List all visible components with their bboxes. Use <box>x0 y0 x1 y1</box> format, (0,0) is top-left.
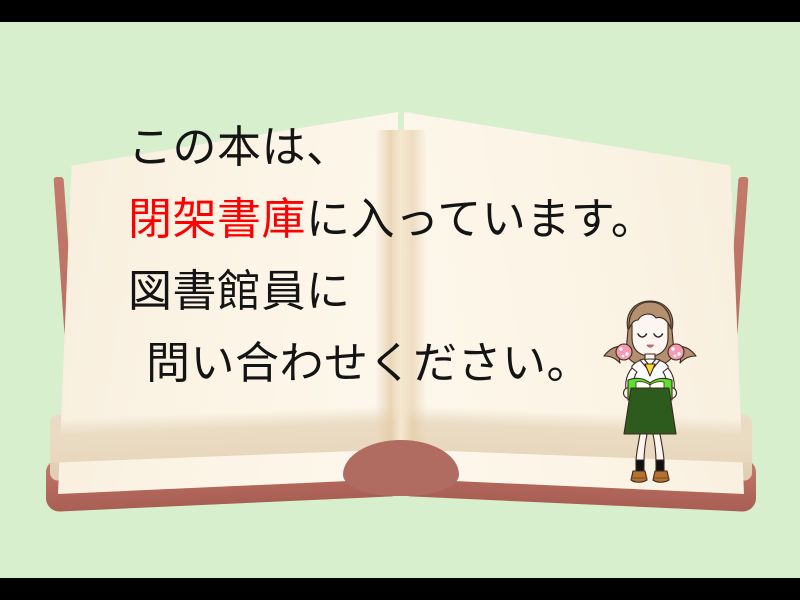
slide-stage: この本は、 閉架書庫に入っています。 図書館員に 問い合わせください。 <box>0 0 800 600</box>
letterbox-top <box>0 0 800 22</box>
sock-left-icon <box>636 460 644 472</box>
hair-tie-right-icon <box>668 344 684 360</box>
notice-line-4-text: 問い合わせください。 <box>146 338 591 389</box>
leg-left-icon <box>636 434 647 462</box>
notice-line-2-text: に入っています。 <box>306 194 655 245</box>
notice-line-2: 閉架書庫に入っています。 <box>128 184 688 256</box>
letterbox-bottom <box>0 578 800 600</box>
notice-line-3-text: 図書館員に <box>128 266 351 317</box>
notice-line-1-text: この本は、 <box>128 122 351 173</box>
slide-canvas: この本は、 閉架書庫に入っています。 図書館員に 問い合わせください。 <box>0 22 800 578</box>
notice-line-1: この本は、 <box>128 112 688 184</box>
shoe-right-icon <box>653 471 669 482</box>
notice-line-2-highlight: 閉架書庫 <box>128 194 306 245</box>
girl-reading-book-illustration <box>598 296 702 488</box>
sock-right-icon <box>656 460 664 472</box>
hair-tie-left-icon <box>616 344 632 360</box>
leg-right-icon <box>653 434 664 462</box>
skirt-icon <box>624 388 676 434</box>
shoe-left-icon <box>631 471 647 482</box>
